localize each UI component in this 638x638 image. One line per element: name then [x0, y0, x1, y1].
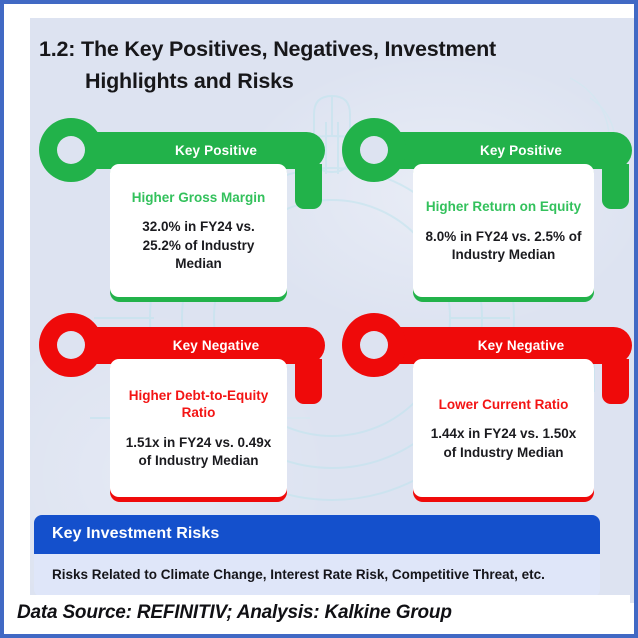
key-icon — [39, 313, 103, 377]
risks-header: Key Investment Risks — [34, 515, 600, 554]
card-detail: 32.0% in FY24 vs. 25.2% of Industry Medi… — [122, 218, 275, 274]
card-heading: Lower Current Ratio — [439, 396, 569, 413]
footer-bar: Data Source: REFINITIV; Analysis: Kalkin… — [8, 595, 630, 630]
key-icon — [342, 118, 406, 182]
card-badge-label: Key Negative — [478, 338, 565, 353]
key-tooth — [602, 164, 629, 209]
key-tooth — [295, 164, 322, 209]
key-tooth — [295, 359, 322, 404]
card-detail: 1.51x in FY24 vs. 0.49x of Industry Medi… — [122, 434, 275, 471]
page-title-line-2: Highlights and Risks — [39, 66, 599, 98]
page-title: 1.2: The Key Positives, Negatives, Inves… — [39, 34, 599, 98]
key-icon — [39, 118, 103, 182]
card-body: Higher Gross Margin 32.0% in FY24 vs. 25… — [110, 164, 287, 297]
page-title-line-1: 1.2: The Key Positives, Negatives, Inves… — [39, 37, 496, 61]
data-source-text: Data Source: REFINITIV; Analysis: Kalkin… — [17, 602, 452, 624]
card-badge-label: Key Positive — [480, 143, 562, 158]
key-card-positive-return-on-equity[interactable]: Key Positive Higher Return on Equity 8.0… — [342, 118, 634, 303]
card-badge-label: Key Negative — [173, 338, 260, 353]
card-detail: 8.0% in FY24 vs. 2.5% of Industry Median — [425, 228, 582, 265]
slide-frame: 1.2: The Key Positives, Negatives, Inves… — [0, 0, 638, 638]
card-detail: 1.44x in FY24 vs. 1.50x of Industry Medi… — [425, 425, 582, 462]
card-body: Higher Debt-to-Equity Ratio 1.51x in FY2… — [110, 359, 287, 497]
key-card-negative-debt-to-equity[interactable]: Key Negative Higher Debt-to-Equity Ratio… — [39, 313, 329, 503]
key-icon — [342, 313, 406, 377]
key-investment-risks-block[interactable]: Key Investment Risks Risks Related to Cl… — [34, 515, 600, 597]
risks-body: Risks Related to Climate Change, Interes… — [34, 554, 600, 597]
card-heading: Higher Debt-to-Equity Ratio — [122, 387, 275, 422]
card-body: Lower Current Ratio 1.44x in FY24 vs. 1.… — [413, 359, 594, 497]
card-heading: Higher Gross Margin — [132, 189, 266, 206]
card-body: Higher Return on Equity 8.0% in FY24 vs.… — [413, 164, 594, 297]
key-tooth — [602, 359, 629, 404]
card-badge-label: Key Positive — [175, 143, 257, 158]
card-heading: Higher Return on Equity — [426, 198, 581, 215]
key-card-negative-current-ratio[interactable]: Key Negative Lower Current Ratio 1.44x i… — [342, 313, 634, 503]
key-card-positive-gross-margin[interactable]: Key Positive Higher Gross Margin 32.0% i… — [39, 118, 329, 303]
